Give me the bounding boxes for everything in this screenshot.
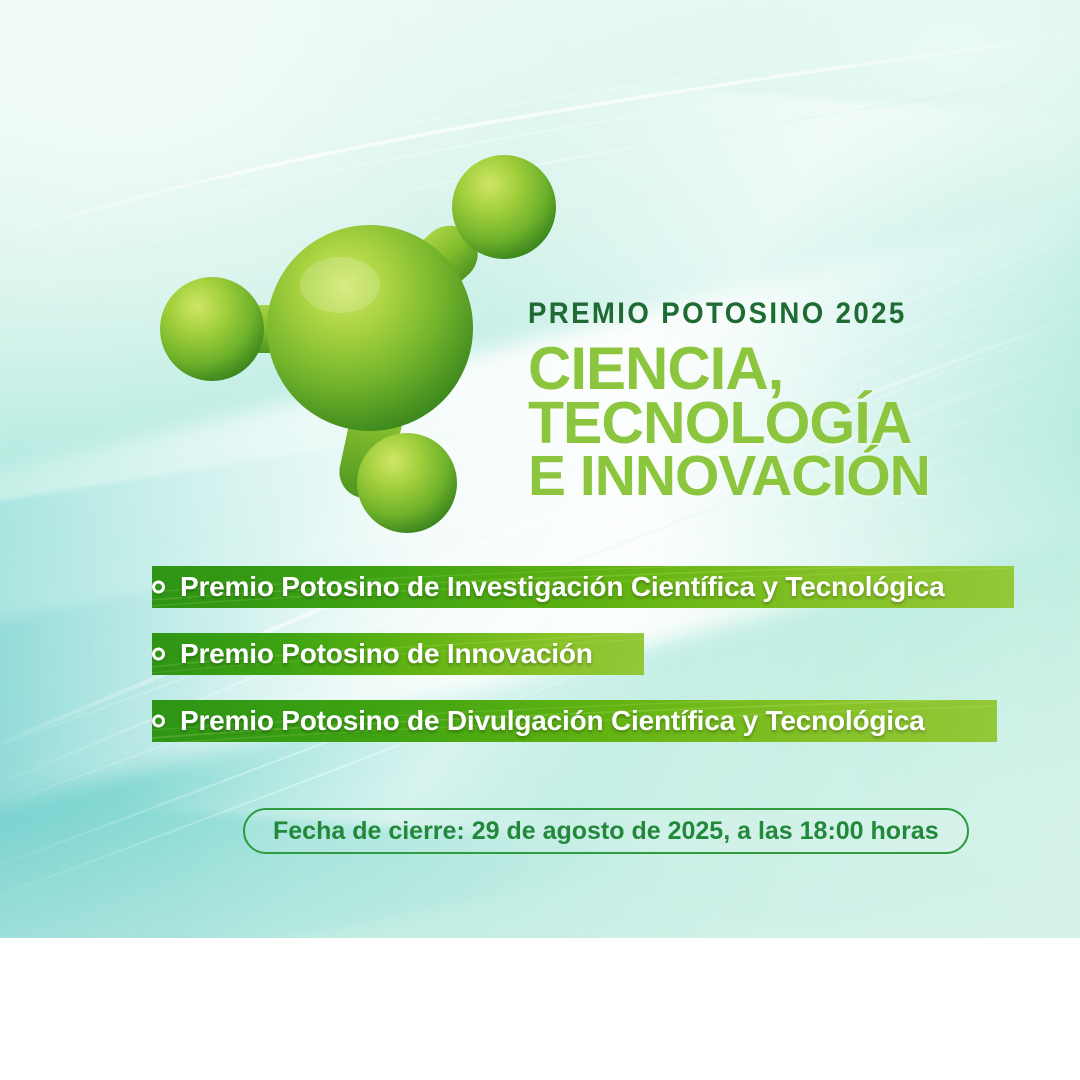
award-item: Premio Potosino de Investigación Científ… (152, 566, 1032, 608)
deadline-badge: Fecha de cierre: 29 de agosto de 2025, a… (243, 808, 969, 854)
bullet-ring-icon (152, 715, 165, 728)
poster-canvas: PREMIO POTOSINO 2025 CIENCIA, TECNOLOGÍA… (0, 0, 1080, 1080)
award-label: Premio Potosino de Innovación (180, 638, 593, 670)
award-bar: Premio Potosino de Innovación (152, 633, 644, 675)
award-item: Premio Potosino de Innovación (152, 633, 1032, 675)
footer: POTOSÍ sin límites GOBIERNO DEL ESTADO 2… (0, 938, 1080, 1080)
molecule-illustration (135, 145, 575, 535)
bullet-ring-icon (152, 581, 165, 594)
award-label: Premio Potosino de Divulgación Científic… (180, 705, 925, 737)
page-title: CIENCIA, TECNOLOGÍA E INNOVACIÓN (528, 341, 1058, 503)
award-bar: Premio Potosino de Divulgación Científic… (152, 700, 997, 742)
title-line-3: E INNOVACIÓN (528, 450, 1058, 502)
kicker-text: PREMIO POTOSINO 2025 (528, 297, 1016, 331)
award-item: Premio Potosino de Divulgación Científic… (152, 700, 1032, 742)
headline-block: PREMIO POTOSINO 2025 CIENCIA, TECNOLOGÍA… (528, 297, 1058, 503)
award-bar: Premio Potosino de Investigación Científ… (152, 566, 1014, 608)
bullet-ring-icon (152, 648, 165, 661)
deadline-text: Fecha de cierre: 29 de agosto de 2025, a… (273, 817, 939, 846)
award-label: Premio Potosino de Investigación Científ… (180, 571, 944, 603)
award-list: Premio Potosino de Investigación Científ… (152, 566, 1032, 767)
title-line-1: CIENCIA, (528, 341, 1058, 396)
title-line-2: TECNOLOGÍA (528, 396, 1058, 450)
